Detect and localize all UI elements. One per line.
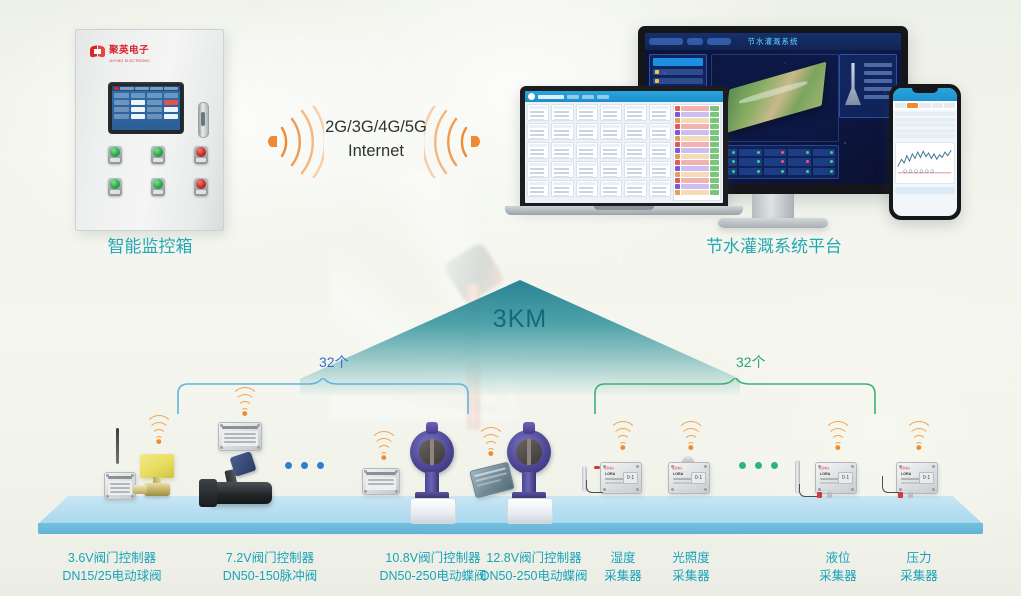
indicator-button-row-1 (108, 146, 208, 164)
valve-top-boss (426, 422, 438, 434)
device-label-line1: 压力 (869, 549, 969, 567)
valve-pedestal (410, 498, 456, 524)
wifi-signal-icon (610, 434, 636, 450)
sprinkler-head-icon (445, 250, 503, 430)
bracket-count-left: 32个 (319, 352, 349, 372)
valve-flange-right (199, 479, 212, 507)
indicator-button-green[interactable] (108, 178, 122, 196)
phone-screen (893, 88, 957, 216)
lora-sensor-housing: 聚英电子 LORA 0·1 (600, 462, 642, 494)
indicator-button-green[interactable] (151, 146, 165, 164)
device-label-line2: 采集器 (869, 567, 969, 585)
device-label-pressure: 压力 采集器 (869, 549, 969, 585)
laptop-base-notch (594, 206, 654, 210)
lora-sensor-housing: 聚英电子 LORA 0·1 (815, 462, 857, 494)
indicator-button-green[interactable] (108, 146, 122, 164)
irrigation-system-diagram: 3KM 聚英电子 JUYING ELECTRONIC (0, 0, 1021, 596)
sensor-cable (586, 480, 603, 493)
network-label: 2G/3G/4G/5G Internet (310, 116, 442, 164)
valve-top-boss (523, 422, 535, 434)
device-humidity-collector[interactable]: 聚英电子 LORA 0·1 (600, 462, 642, 494)
laptop-app-toolbar (525, 91, 723, 102)
event-log-panel[interactable] (673, 104, 721, 201)
terminal-red (594, 466, 600, 469)
lora-module-label: LORA (820, 472, 830, 476)
terminal-gray (827, 492, 832, 498)
monitor-screen-title: 节水灌溉系统 (645, 36, 901, 47)
platform-caption: 节水灌溉系统平台 (634, 232, 914, 257)
indicator-button-green[interactable] (151, 178, 165, 196)
cabinet-door-handle[interactable] (198, 102, 209, 138)
laptop-screen (525, 91, 723, 203)
valve-vane (527, 439, 531, 465)
weather-station-icon (845, 63, 861, 105)
wifi-signal-icon (825, 434, 851, 450)
lora-sensor-housing: 聚英电子 LORA 0·1 (896, 462, 938, 494)
device-level-collector[interactable]: 聚英电子 LORA 0·1 (815, 462, 857, 494)
phone-tab-bar[interactable] (893, 101, 957, 110)
hmi-data-grid (112, 91, 180, 121)
hmi-touch-panel[interactable] (108, 82, 184, 134)
lora-module-label: LORA (901, 472, 911, 476)
monitor-farm-map[interactable] (711, 54, 839, 142)
lora-module-label: LORA (673, 472, 683, 476)
slab-shadow (60, 533, 960, 541)
bracket-right (592, 378, 882, 414)
valve-stem (522, 472, 536, 494)
mobile-phone (889, 84, 961, 220)
phone-data-table (893, 110, 957, 140)
valve-pedestal (507, 498, 553, 524)
hmi-screen (112, 86, 180, 130)
controller-housing (362, 468, 400, 495)
brand-name-en: JUYING ELECTRONIC (109, 59, 150, 63)
controller-housing (469, 462, 515, 499)
ground-platform-face (38, 523, 983, 534)
device-illuminance-collector[interactable]: 聚英电子 LORA 0·1 (668, 462, 710, 494)
brand-text-block: 聚英电子 JUYING ELECTRONIC (109, 40, 150, 63)
monitor-valve-status-grid[interactable] (711, 145, 839, 179)
range-label: 3KM (300, 305, 740, 334)
ellipsis-dots-left (285, 462, 324, 469)
cabinet-caption: 智能监控箱 (40, 232, 260, 257)
device-card-grid[interactable] (527, 104, 671, 201)
app-logo-icon (528, 93, 535, 100)
laptop-computer (520, 86, 728, 208)
sensor-cable (882, 476, 899, 493)
wifi-signal-icon (906, 434, 932, 450)
wifi-signal-icon (478, 440, 504, 456)
monitor-stand-base (718, 218, 828, 228)
indicator-button-red[interactable] (194, 178, 208, 196)
wifi-signal-icon (232, 400, 258, 416)
smart-monitoring-cabinet: 聚英电子 JUYING ELECTRONIC (75, 29, 224, 231)
brass-ball-valve-body (144, 483, 170, 496)
device-pressure-collector[interactable]: 聚英电子 LORA 0·1 (896, 462, 938, 494)
juying-logo-icon (90, 44, 105, 59)
terminal-red (898, 492, 903, 498)
network-label-line2: Internet (310, 140, 442, 164)
device-label-line1: 光照度 (641, 549, 741, 567)
terminal-gray (908, 492, 913, 498)
device-label-illuminance: 光照度 采集器 (641, 549, 741, 585)
wifi-signal-icon (371, 444, 397, 460)
controller-housing (104, 472, 136, 500)
terminal-red (817, 492, 822, 498)
phone-action-button[interactable] (895, 187, 955, 194)
lora-module-label: LORA (605, 472, 615, 476)
monitor-stand-neck (752, 194, 794, 220)
coverage-mountain-shape (300, 280, 740, 395)
monitor-topbar: 节水灌溉系统 (645, 33, 901, 50)
controller-housing (218, 422, 262, 451)
indicator-button-row-2 (108, 178, 208, 196)
valve-stem (425, 472, 439, 494)
brand-name-cn: 聚英电子 (109, 45, 149, 56)
phone-line-chart (895, 142, 955, 184)
valve-port-right (133, 485, 142, 494)
lora-sensor-housing: 聚英电子 LORA 0·1 (668, 462, 710, 494)
valve-actuator (140, 454, 174, 478)
pulse-valve-body (208, 482, 272, 504)
antenna-icon (116, 428, 119, 464)
cabinet-brand-logo: 聚英电子 JUYING ELECTRONIC (90, 40, 150, 63)
phone-notch (912, 88, 938, 93)
device-label-line2: 采集器 (641, 567, 741, 585)
network-label-line1: 2G/3G/4G/5G (310, 116, 442, 140)
wifi-signal-icon (678, 434, 704, 450)
sensor-cable (799, 484, 818, 497)
valve-vane (430, 439, 434, 465)
ellipsis-dots-right (739, 462, 778, 469)
laptop-dashboard (525, 102, 723, 203)
wifi-signal-icon (146, 428, 172, 444)
bracket-count-right: 32个 (736, 352, 766, 372)
indicator-button-red[interactable] (194, 146, 208, 164)
bracket-left (175, 378, 475, 414)
